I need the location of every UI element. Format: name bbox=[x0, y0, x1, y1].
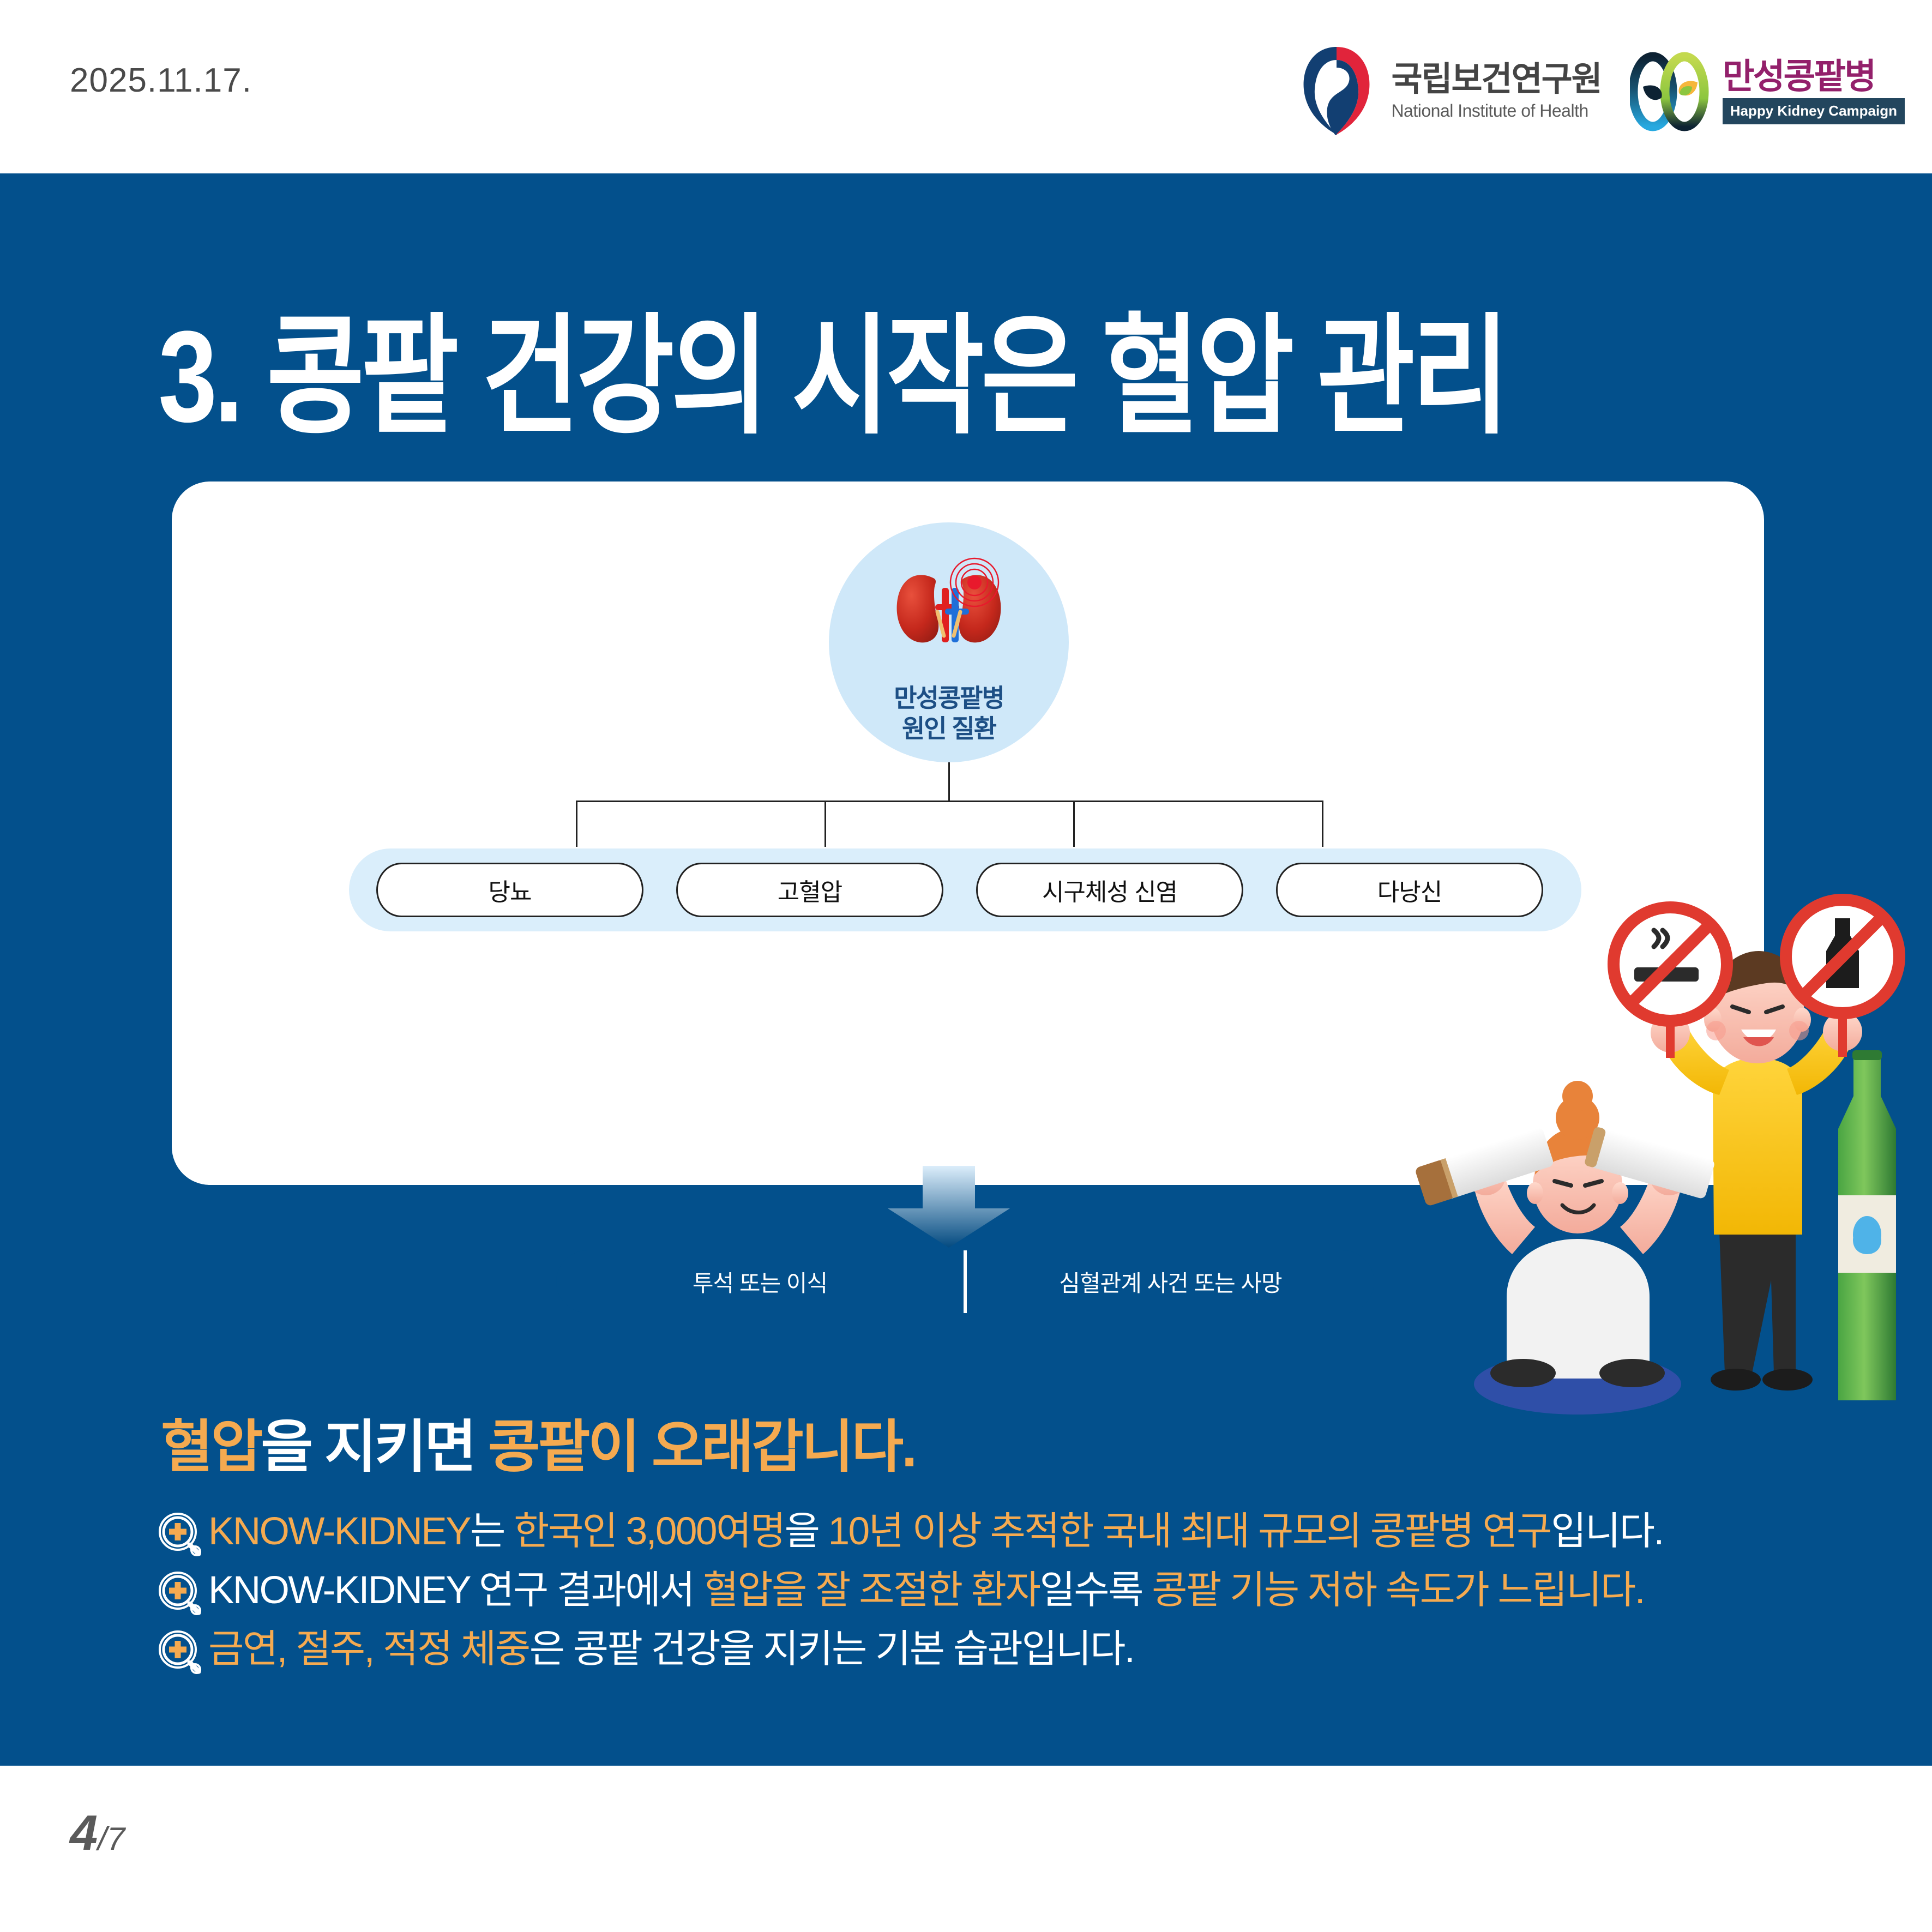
bullet1-seg6: 입니다. bbox=[1551, 1510, 1663, 1553]
headline: 혈압을 지키면 콩팥이 오래갑니다. bbox=[161, 1400, 915, 1483]
slide-body: 3. 콩팥 건강의 시작은 혈압 관리 bbox=[0, 173, 1932, 1766]
bullet2-seg1: KNOW-KIDNEY 연구 결과에서 bbox=[208, 1569, 703, 1612]
bullet2-seg4: 콩팥 기능 저하 속도가 느립니다. bbox=[1152, 1569, 1644, 1612]
page-header: 2025.11.17. 국립보건연구원 National Institute o… bbox=[0, 0, 1932, 173]
cause-pill-2[interactable]: 고혈압 bbox=[676, 863, 943, 917]
page-title: 3. 콩팥 건강의 시작은 혈압 관리 bbox=[158, 272, 1506, 459]
nih-logo: 국립보건연구원 National Institute of Health bbox=[1298, 44, 1601, 139]
list-item: 금연, 절주, 적정 체중은 콩팥 건강을 지키는 기본 습관입니다. bbox=[158, 1624, 1778, 1676]
bullet-text-1: KNOW-KIDNEY는 한국인 3,000여명을 10년 이상 추적한 국내 … bbox=[204, 1507, 1663, 1557]
campaign-logo: 만성콩팥병 Happy Kidney Campaign bbox=[1630, 51, 1905, 133]
header-date: 2025.11.17. bbox=[70, 61, 252, 100]
bullet-list: KNOW-KIDNEY는 한국인 3,000여명을 10년 이상 추적한 국내 … bbox=[158, 1507, 1778, 1683]
outcome-bar-2[interactable]: 심혈관계 사건 또는 사망 bbox=[964, 1250, 1374, 1313]
cause-pill-1[interactable]: 당뇨 bbox=[376, 863, 643, 917]
nih-logo-text: 국립보건연구원 National Institute of Health bbox=[1391, 62, 1601, 121]
bullet1-seg4: 을 bbox=[785, 1510, 828, 1553]
bullet2-seg2: 혈압을 잘 조절한 환자 bbox=[703, 1569, 1039, 1612]
diagram-hub-label: 만성콩팥병 원인 질환 bbox=[894, 683, 1004, 744]
campaign-english-name: Happy Kidney Campaign bbox=[1723, 98, 1905, 124]
kidney-illustration-icon bbox=[881, 554, 1017, 663]
page-footer: 4/7 bbox=[0, 1766, 1932, 1932]
green-bottle-icon bbox=[1838, 1050, 1896, 1400]
magnifier-plus-icon bbox=[158, 1571, 204, 1617]
header-logos: 국립보건연구원 National Institute of Health bbox=[1298, 44, 1905, 139]
nih-korean-name: 국립보건연구원 bbox=[1391, 62, 1601, 97]
hub-label-line2: 원인 질환 bbox=[894, 713, 1004, 744]
bullet1-seg1: KNOW-KIDNEY bbox=[208, 1510, 470, 1553]
magnifier-plus-icon bbox=[158, 1512, 204, 1558]
connector-horizontal bbox=[576, 801, 1323, 802]
nih-english-name: National Institute of Health bbox=[1391, 101, 1601, 121]
headline-part-3: 콩팥이 오래갑니다. bbox=[488, 1416, 915, 1479]
kidney-ribbon-icon bbox=[1630, 51, 1711, 133]
diagram-hub: 만성콩팥병 원인 질환 bbox=[829, 522, 1069, 762]
outcome-bar-1[interactable]: 투석 또는 이식 bbox=[556, 1250, 964, 1313]
connector-drop-1 bbox=[576, 801, 577, 847]
page-number: 4/7 bbox=[70, 1805, 125, 1862]
connector-drop-3 bbox=[1073, 801, 1075, 847]
bullet-text-2: KNOW-KIDNEY 연구 결과에서 혈압을 잘 조절한 환자일수록 콩팥 기… bbox=[204, 1566, 1644, 1616]
down-arrow-icon bbox=[872, 1166, 1025, 1248]
outcome-bars: 투석 또는 이식 심혈관계 사건 또는 사망 bbox=[556, 1250, 1374, 1313]
magnifier-plus-icon bbox=[158, 1630, 204, 1676]
page-number-current: 4 bbox=[70, 1805, 98, 1861]
cause-pill-3[interactable]: 시구체성 신염 bbox=[976, 863, 1243, 917]
bullet-text-3: 금연, 절주, 적정 체중은 콩팥 건강을 지키는 기본 습관입니다. bbox=[204, 1624, 1134, 1675]
page-number-total: /7 bbox=[98, 1821, 125, 1857]
bullet1-seg2: 는 bbox=[470, 1510, 514, 1553]
connector-stem bbox=[948, 762, 950, 802]
bullet3-seg2: 은 콩팥 건강을 지키는 기본 습관입니다. bbox=[529, 1628, 1134, 1671]
bullet1-seg5: 10년 이상 추적한 국내 최대 규모의 콩팥병 연구 bbox=[828, 1510, 1551, 1553]
woman-character bbox=[1466, 1081, 1689, 1415]
headline-part-2: 을 지키면 bbox=[261, 1416, 488, 1479]
bullet1-seg3: 한국인 3,000여명 bbox=[514, 1510, 785, 1553]
campaign-korean-name: 만성콩팥병 bbox=[1723, 59, 1905, 94]
hub-label-line1: 만성콩팥병 bbox=[894, 683, 1004, 713]
bullet3-seg1: 금연, 절주, 적정 체중 bbox=[208, 1628, 529, 1671]
list-item: KNOW-KIDNEY는 한국인 3,000여명을 10년 이상 추적한 국내 … bbox=[158, 1507, 1778, 1558]
connector-drop-2 bbox=[824, 801, 826, 847]
taegeuk-icon bbox=[1298, 44, 1375, 139]
bullet2-seg3: 일수록 bbox=[1039, 1569, 1152, 1612]
list-item: KNOW-KIDNEY 연구 결과에서 혈압을 잘 조절한 환자일수록 콩팥 기… bbox=[158, 1566, 1778, 1617]
campaign-logo-text: 만성콩팥병 Happy Kidney Campaign bbox=[1723, 59, 1905, 124]
connector-drop-4 bbox=[1322, 801, 1323, 847]
characters-illustration bbox=[1414, 850, 1927, 1439]
headline-part-1: 혈압 bbox=[161, 1416, 261, 1479]
